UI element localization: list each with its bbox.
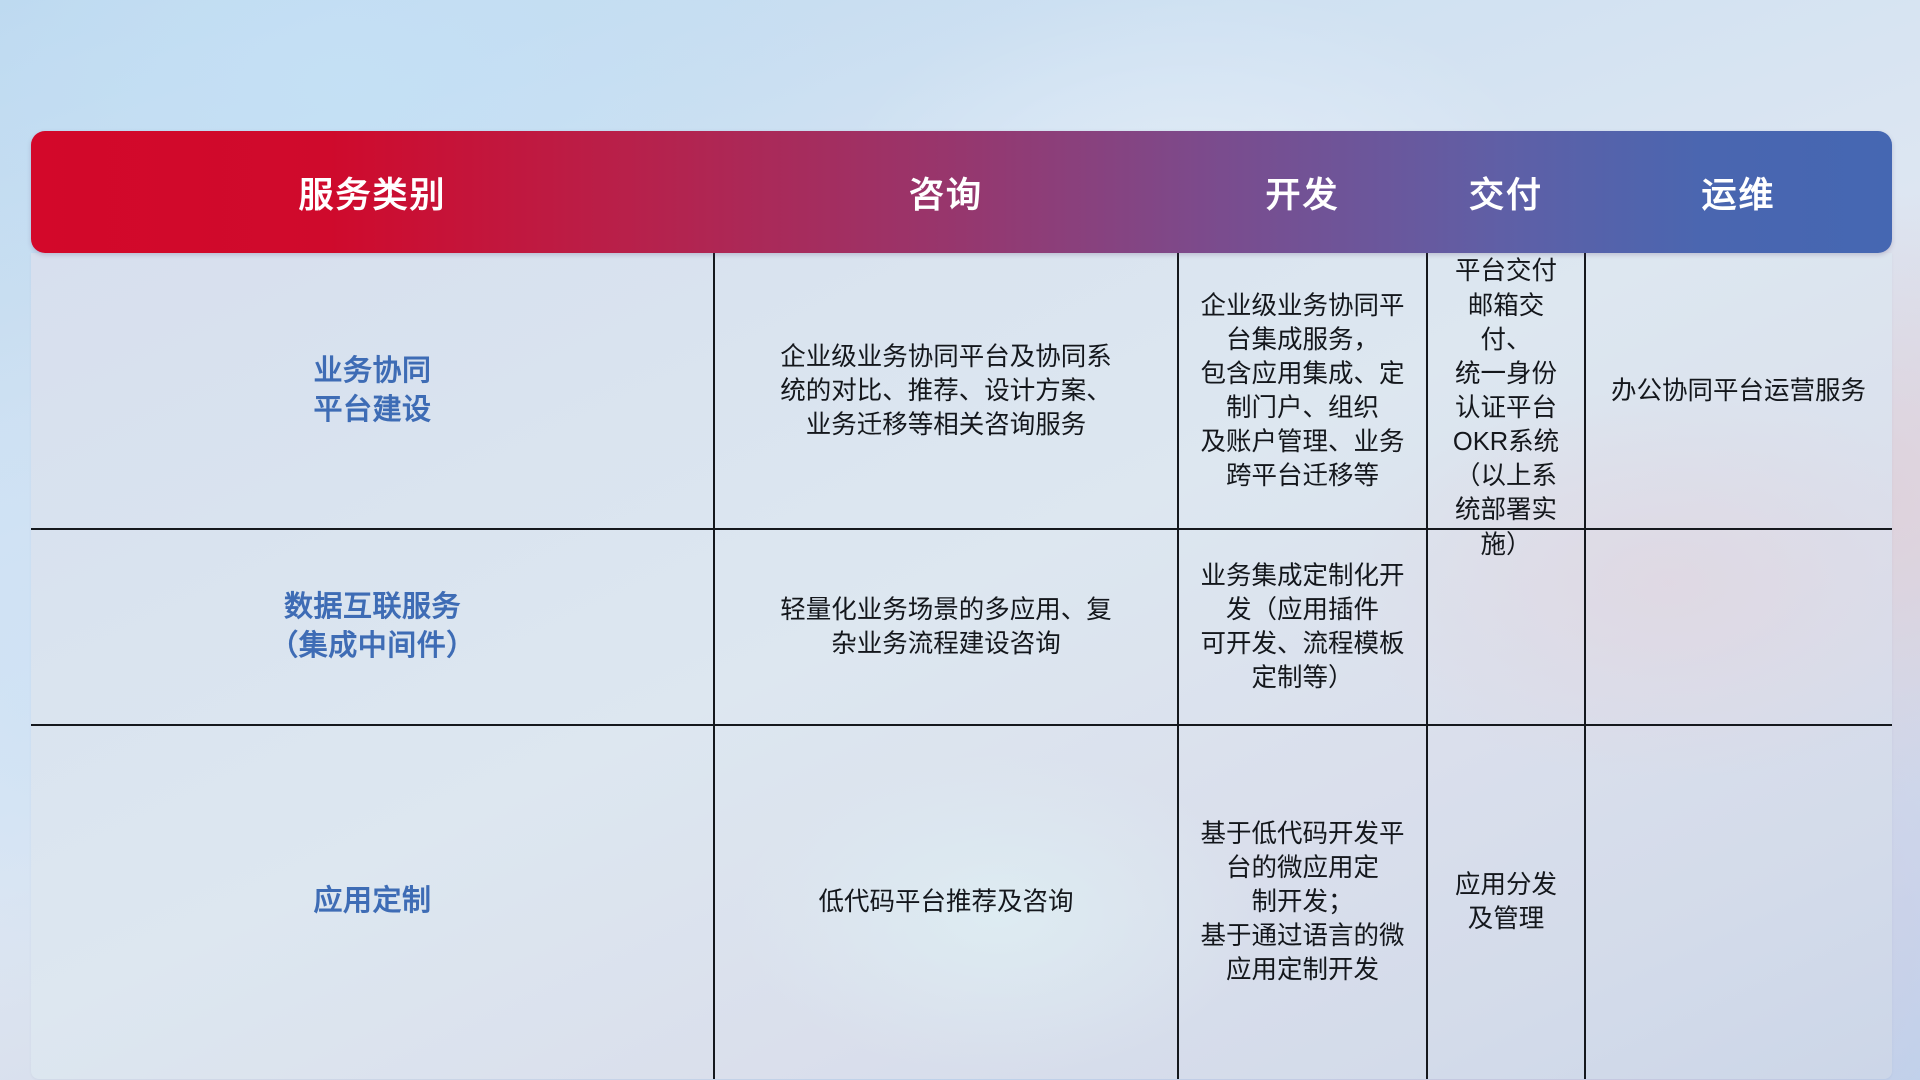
header-cell-category: 服务类别 bbox=[31, 167, 714, 218]
cell-delivery-2: 应用分发及管理 bbox=[1427, 862, 1585, 942]
header-cell-delivery: 交付 bbox=[1427, 167, 1585, 218]
cell-consulting-1: 轻量化业务场景的多应用、复 杂业务流程建设咨询 bbox=[714, 587, 1178, 667]
header-cell-operations: 运维 bbox=[1585, 167, 1892, 218]
cell-consulting-0: 企业级业务协同平台及协同系 统的对比、推荐、设计方案、 业务迁移等相关咨询服务 bbox=[714, 334, 1178, 448]
row-label-0: 业务协同 平台建设 bbox=[31, 346, 714, 436]
table-row: 数据互联服务 （集成中间件） 轻量化业务场景的多应用、复 杂业务流程建设咨询 业… bbox=[31, 529, 1892, 725]
cell-development-0: 企业级业务协同平台集成服务， 包含应用集成、定制门户、组织 及账户管理、业务跨平… bbox=[1178, 283, 1427, 500]
cell-consulting-2: 低代码平台推荐及咨询 bbox=[714, 879, 1178, 925]
cell-operations-2 bbox=[1585, 896, 1892, 908]
service-category-table: 服务类别 咨询 开发 交付 运维 业务协同 平台建设 企业级业务协同平台及协同系… bbox=[31, 131, 1892, 958]
cell-operations-1 bbox=[1585, 621, 1892, 633]
header-cell-development: 开发 bbox=[1178, 167, 1427, 218]
cell-delivery-0: 项目管理平台交付 邮箱交付、 统一身份认证平台 OKR系统 （以上系统部署实施） bbox=[1427, 214, 1585, 568]
row-label-1: 数据互联服务 （集成中间件） bbox=[31, 582, 714, 672]
table-header-row: 服务类别 咨询 开发 交付 运维 bbox=[31, 131, 1892, 253]
header-cell-consulting: 咨询 bbox=[714, 167, 1178, 218]
cell-delivery-1 bbox=[1427, 621, 1585, 633]
table-row: 应用定制 低代码平台推荐及咨询 基于低代码开发平台的微应用定 制开发； 基于通过… bbox=[31, 725, 1892, 1079]
cell-development-2: 基于低代码开发平台的微应用定 制开发； 基于通过语言的微应用定制开发 bbox=[1178, 811, 1427, 994]
table-row: 业务协同 平台建设 企业级业务协同平台及协同系 统的对比、推荐、设计方案、 业务… bbox=[31, 253, 1892, 529]
row-label-2: 应用定制 bbox=[31, 876, 714, 927]
cell-development-1: 业务集成定制化开发（应用插件 可开发、流程模板定制等） bbox=[1178, 553, 1427, 702]
cell-operations-0: 办公协同平台运营服务 bbox=[1585, 368, 1892, 414]
